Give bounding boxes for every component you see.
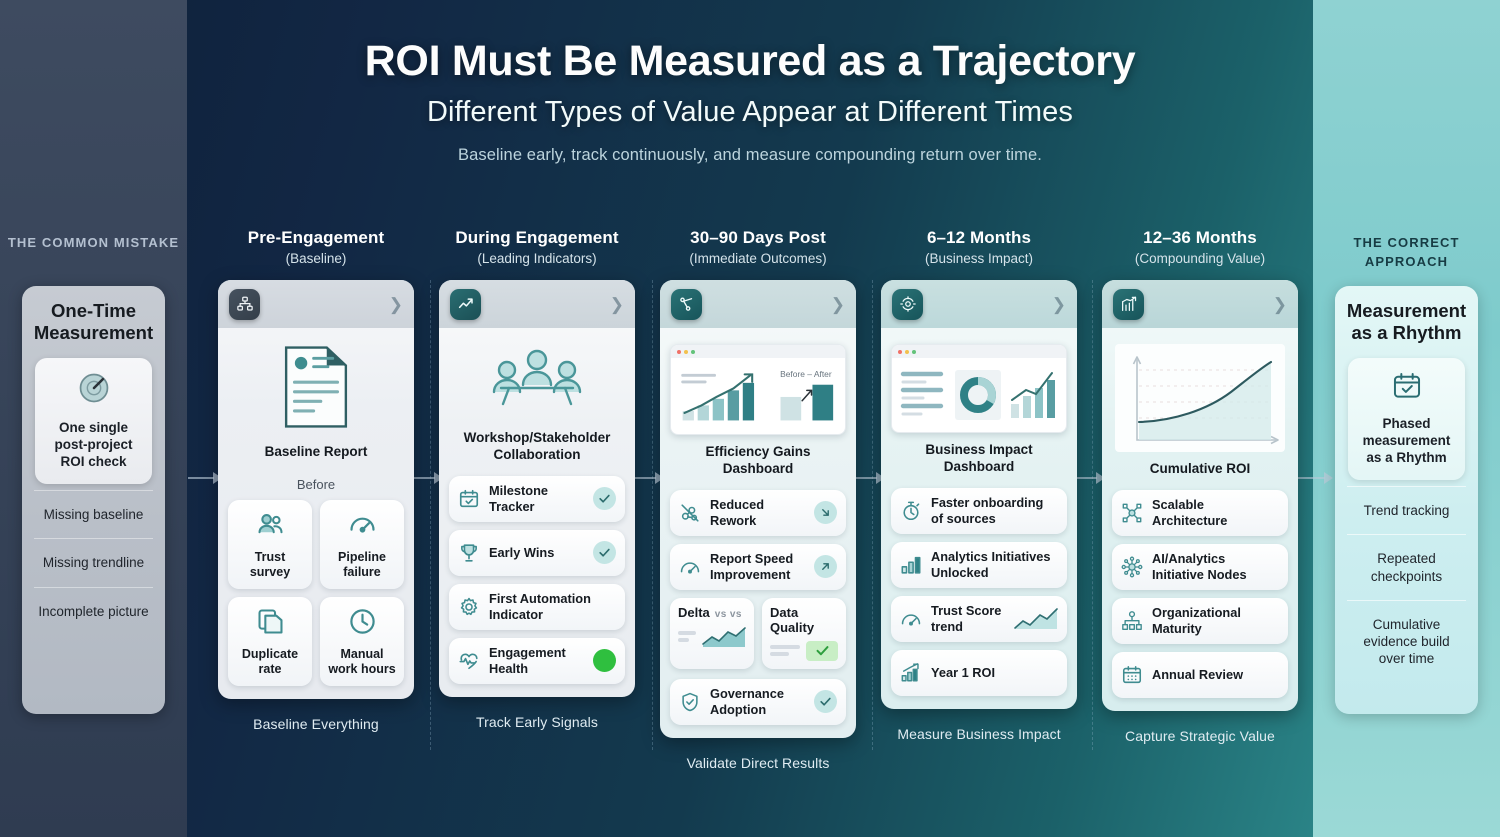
mini-title: Data Quality [770,605,838,635]
phase-subtitle: (Immediate Outcomes) [660,251,856,266]
card-title: One-Time Measurement [34,300,153,344]
list-item: Trend tracking [1347,487,1466,534]
chip-manual-work-hours[interactable]: Manual work hours [320,597,404,686]
row-label: Governance Adoption [710,686,805,717]
arrow-up-badge-icon [814,555,837,578]
phase-title: 6–12 Months [881,228,1077,248]
row-faster-onboarding[interactable]: Faster onboarding of sources [891,488,1067,534]
phase-title: 30–90 Days Post [660,228,856,248]
check-badge-icon [593,487,616,510]
column-divider [652,280,653,750]
phase-title: Pre-Engagement [218,228,414,248]
trophy-icon [458,542,480,564]
before-after-chart: Before – After [773,364,839,428]
row-label: Engagement Health [489,645,584,676]
chip-duplicate-rate[interactable]: Duplicate rate [228,597,312,686]
card-header: ❯ [218,280,414,328]
browser-titlebar [892,345,1066,358]
shield-check-icon [679,691,701,713]
phase-column-during-engagement: During Engagement (Leading Indicators) ❯ [439,228,635,730]
business-dashboard-icon [891,344,1067,433]
row-reduced-rework[interactable]: Reduced Rework [670,490,846,536]
row-label: Early Wins [489,545,584,561]
row-annual-review[interactable]: Annual Review [1112,652,1288,698]
rework-icon [679,502,701,524]
row-engagement-health[interactable]: Engagement Health [449,638,625,684]
row-milestone-tracker[interactable]: Milestone Tracker [449,476,625,522]
phase-footer: Validate Direct Results [660,755,856,771]
browser-canvas: Before – After [671,358,845,434]
outcome-list: Reduced Rework Report Speed Improvement [670,490,846,590]
row-label: Report Speed Improvement [710,551,805,582]
hero-block: Workshop/Stakeholder Collaboration [449,340,625,466]
target-focus-icon[interactable] [892,289,923,320]
chevron-right-icon[interactable]: ❯ [389,296,403,313]
chip-trust-survey[interactable]: Trust survey [228,500,312,589]
mini-card-data-quality[interactable]: Data Quality [762,598,846,669]
gauge-dial-icon [75,369,113,412]
calendar-check-icon [1390,369,1424,408]
row-first-automation-indicator[interactable]: First Automation Indicator [449,584,625,630]
row-label: First Automation Indicator [489,591,616,622]
card-header: ❯ [439,280,635,328]
baseline-chip-grid: Trust survey Pipeline failure [228,500,404,686]
list-item: Cumulative evidence build over time [1347,600,1466,683]
scatter-path-icon[interactable] [671,289,702,320]
speedo-icon [679,556,701,578]
chip-label: Duplicate rate [233,647,307,677]
clock-icon [347,606,378,642]
gauge-icon [347,509,378,545]
phase-subtitle: (Compounding Value) [1102,251,1298,266]
column-divider [1092,280,1093,750]
list-item: Missing trendline [34,538,153,586]
impact-list: Faster onboarding of sources Analytics I… [891,488,1067,696]
chevron-right-icon[interactable]: ❯ [610,296,624,313]
chart-growth-icon[interactable] [1113,289,1144,320]
arrow-down-badge-icon [814,501,837,524]
workshop-people-icon [485,344,589,421]
column-divider [872,280,873,750]
card-header: ❯ [881,280,1077,328]
phase-card[interactable]: ❯ Baseline Report Before [218,280,414,699]
hero-block: Before – After Efficiency Gains Dashboar… [670,340,846,480]
row-label: Year 1 ROI [931,665,1058,681]
flow-arrow [1295,472,1333,484]
check-badge-icon [814,690,837,713]
check-green-icon [806,641,838,661]
hero-tile: One single post-project ROI check [35,358,152,484]
row-label: Scalable Architecture [1152,497,1279,528]
browser-titlebar [671,345,845,358]
row-label: AI/Analytics Initiative Nodes [1152,551,1279,582]
trend-up-icon[interactable] [450,289,481,320]
card-header: ❯ [660,280,856,328]
nodes-square-icon [1121,502,1143,524]
chip-label: Manual work hours [325,647,399,677]
donut-chart [955,370,1001,420]
phase-card[interactable]: ❯ [881,280,1077,709]
row-ai-analytics-initiative-nodes[interactable]: AI/Analytics Initiative Nodes [1112,544,1288,590]
hero-label: Phased measurement as a Rhythm [1356,416,1457,467]
card-header: ❯ [1102,280,1298,328]
list-item: Missing baseline [34,491,153,538]
card-body: Baseline Report Before Trust survey [218,328,414,699]
network-hub-icon [1121,556,1143,578]
row-early-wins[interactable]: Early Wins [449,530,625,576]
card-body: Workshop/Stakeholder Collaboration Miles… [439,328,635,697]
card-body: Business Impact Dashboard Faster onboard… [881,328,1077,709]
bar-arrow-icon [900,662,922,684]
phase-card[interactable]: ❯ [660,280,856,738]
phase-footer: Baseline Everything [218,716,414,732]
strategic-list: Scalable Architecture [1112,490,1288,698]
hero-caption: Workshop/Stakeholder Collaboration [449,430,625,464]
status-dot-green-icon [593,649,616,672]
hero-caption: Business Impact Dashboard [891,442,1067,476]
hero-caption: Efficiency Gains Dashboard [670,444,846,478]
one-time-measurement-card: One-Time Measurement One single post-pro… [22,286,165,714]
check-badge-icon [593,541,616,564]
hero-block: Baseline Report [228,340,404,463]
chip-label: Pipeline failure [325,550,399,580]
chevron-right-icon[interactable]: ❯ [1052,296,1066,313]
text-lines-block [898,364,950,426]
area-spark-icon [702,626,746,648]
chip-label: Trust survey [233,550,307,580]
phase-title: 12–36 Months [1102,228,1298,248]
people-icon [255,509,286,545]
bar-chart-icon [900,554,922,576]
list-item: Repeated checkpoints [1347,534,1466,600]
growth-bars-chart [1006,368,1058,422]
dashboard-caption: Before – After [780,369,832,379]
phase-column-6-12-months: 6–12 Months (Business Impact) ❯ [881,228,1077,742]
infographic-canvas: ROI Must Be Measured as a Trajectory Dif… [0,0,1500,837]
phase-column-pre-engagement: Pre-Engagement (Baseline) ❯ [218,228,414,732]
copies-icon [255,606,286,642]
row-label: Trust Score trend [931,603,1005,634]
correct-approach-kicker: THE CORRECT APPROACH [1313,234,1500,272]
row-organizational-maturity[interactable]: Organizational Maturity [1112,598,1288,644]
header-block: ROI Must Be Measured as a Trajectory Dif… [187,38,1313,165]
approach-list: Trend tracking Repeated checkpoints Cumu… [1347,486,1466,683]
section-label: Before [228,477,404,492]
indicator-list: Milestone Tracker [449,476,625,684]
mini-subtitle: vs vs [715,609,742,620]
page-subtitle: Different Types of Value Appear at Diffe… [187,96,1313,129]
phase-subtitle: (Leading Indicators) [439,251,635,266]
row-trust-score-trend[interactable]: Trust Score trend [891,596,1067,642]
row-label: Reduced Rework [710,497,805,528]
document-report-icon [279,344,353,435]
dual-metric-row: Delta vs vs Data Qu [670,598,846,669]
flow-arrow [1075,472,1105,484]
phase-column-30-90-days: 30–90 Days Post (Immediate Outcomes) ❯ [660,228,856,771]
hero-label: One single post-project ROI check [43,420,144,471]
chip-pipeline-failure[interactable]: Pipeline failure [320,500,404,589]
row-label: Faster onboarding of sources [931,495,1058,526]
hero-caption: Cumulative ROI [1150,461,1251,478]
phase-subtitle: (Business Impact) [881,251,1077,266]
phase-card[interactable]: ❯ [439,280,635,697]
stopwatch-icon [900,500,922,522]
page-tagline: Baseline early, track continuously, and … [187,146,1313,165]
row-label: Organizational Maturity [1152,605,1279,636]
calendar-dots-icon [1121,664,1143,686]
mistake-list: Missing baseline Missing trendline Incom… [34,490,153,635]
phase-title: During Engagement [439,228,635,248]
phase-subtitle: (Baseline) [218,251,414,266]
trend-spark-icon [1014,608,1058,630]
phase-footer: Track Early Signals [439,714,635,730]
row-report-speed-improvement[interactable]: Report Speed Improvement [670,544,846,590]
common-mistake-kicker: THE COMMON MISTAKE [0,234,187,253]
row-label: Analytics Initiatives Unlocked [931,549,1058,580]
phase-footer: Capture Strategic Value [1102,728,1298,744]
browser-canvas [892,358,1066,432]
hierarchy-icon [1121,610,1143,632]
placeholder-bars [770,645,800,656]
chevron-right-icon[interactable]: ❯ [1273,296,1287,313]
org-chart-icon[interactable] [229,289,260,320]
list-item: Incomplete picture [34,587,153,635]
page-title: ROI Must Be Measured as a Trajectory [187,38,1313,84]
phase-footer: Measure Business Impact [881,726,1077,742]
measurement-rhythm-card: Measurement as a Rhythm Phased measureme… [1335,286,1478,714]
row-label: Annual Review [1152,667,1279,683]
card-body: Before – After Efficiency Gains Dashboar… [660,328,856,738]
mini-title: Delta [678,605,710,620]
row-scalable-architecture[interactable]: Scalable Architecture [1112,490,1288,536]
hero-block: Business Impact Dashboard [891,340,1067,478]
governance-list: Governance Adoption [670,679,846,725]
row-analytics-initiatives-unlocked[interactable]: Analytics Initiatives Unlocked [891,542,1067,588]
flow-arrow [188,472,222,484]
column-divider [430,280,431,750]
hero-caption: Baseline Report [265,444,368,461]
row-label: Milestone Tracker [489,483,584,514]
gear-icon [458,596,480,618]
card-title: Measurement as a Rhythm [1347,300,1466,344]
phase-card[interactable]: ❯ Cumulative ROI [1102,280,1298,711]
mini-card-delta[interactable]: Delta vs vs [670,598,754,669]
row-year-1-roi[interactable]: Year 1 ROI [891,650,1067,696]
hero-tile: Phased measurement as a Rhythm [1348,358,1465,480]
hero-block: Cumulative ROI [1112,340,1288,480]
placeholder-bars [678,631,696,642]
efficiency-dashboard-icon: Before – After [670,344,846,435]
speedo-icon [900,608,922,630]
growth-bars-chart [677,364,767,428]
calendar-check-icon [458,488,480,510]
phase-column-12-36-months: 12–36 Months (Compounding Value) ❯ [1102,228,1298,744]
heart-pulse-icon [458,650,480,672]
cumulative-curve-icon [1115,344,1285,452]
card-body: Cumulative ROI Scalable Architectur [1102,328,1298,711]
row-governance-adoption[interactable]: Governance Adoption [670,679,846,725]
chevron-right-icon[interactable]: ❯ [831,296,845,313]
